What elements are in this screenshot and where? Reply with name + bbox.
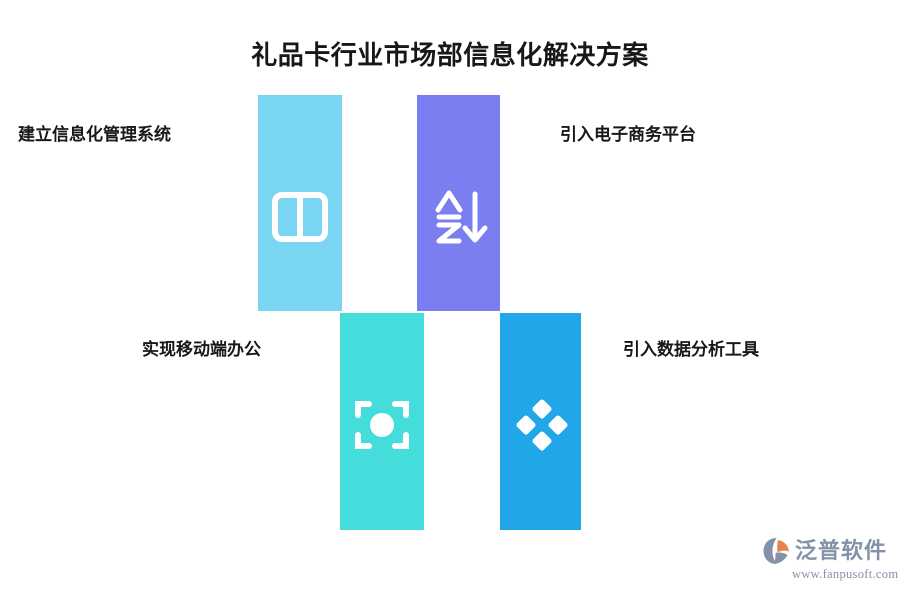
brand-name: 泛普软件 (795, 540, 887, 562)
brand-url: www.fanpusoft.com (792, 568, 898, 581)
four-diamonds-icon (500, 383, 581, 467)
focus-scan-icon (340, 383, 424, 467)
sort-a-z-descending-icon (417, 175, 500, 259)
brand-logo-top: 泛普软件 (762, 536, 887, 566)
label-top-right: 引入电子商务平台 (560, 125, 696, 145)
label-bottom-left: 实现移动端办公 (142, 340, 261, 360)
label-top-left: 建立信息化管理系统 (18, 125, 171, 145)
fanpu-logo-mark-icon (762, 536, 792, 566)
page-title: 礼品卡行业市场部信息化解决方案 (0, 40, 900, 71)
infographic-canvas: 礼品卡行业市场部信息化解决方案 (0, 0, 900, 600)
label-bottom-right: 引入数据分析工具 (623, 340, 759, 360)
brand-logo: 泛普软件 www.fanpusoft.com (762, 536, 894, 584)
split-columns-icon (258, 175, 342, 259)
